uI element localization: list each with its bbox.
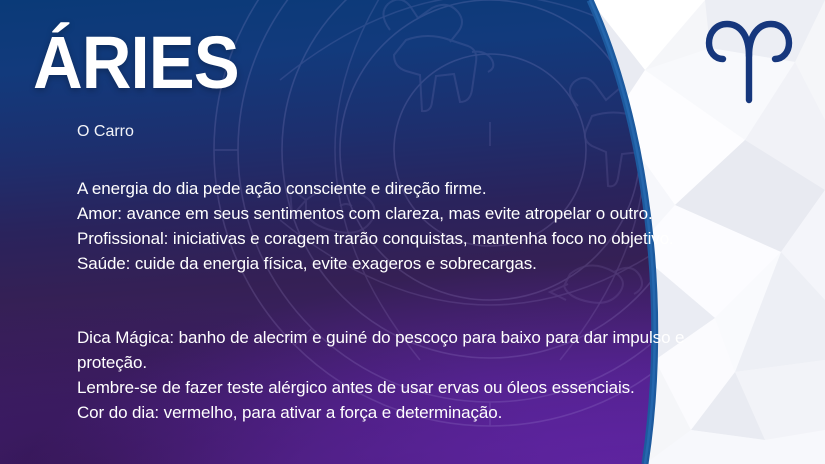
reading-line: Dica Mágica: banho de alecrim e guiné do…	[77, 325, 727, 375]
reading-line: Profissional: iniciativas e coragem trar…	[77, 226, 727, 251]
reading-paragraph-1: A energia do dia pede ação consciente e …	[77, 176, 727, 276]
reading-line: Cor do dia: vermelho, para ativar a forç…	[77, 400, 727, 425]
tarot-card-label: O Carro	[77, 122, 134, 141]
page-title: ÁRIES	[33, 26, 239, 100]
reading-line: A energia do dia pede ação consciente e …	[77, 176, 727, 201]
horoscope-card: ÁRIES O Carro A energia do dia pede ação…	[0, 0, 825, 464]
reading-line: Lembre-se de fazer teste alérgico antes …	[77, 375, 727, 400]
reading-line: Saúde: cuide da energia física, evite ex…	[77, 251, 727, 276]
reading-line: Amor: avance em seus sentimentos com cla…	[77, 201, 727, 226]
aries-zodiac-icon	[703, 14, 795, 106]
reading-paragraph-2: Dica Mágica: banho de alecrim e guiné do…	[77, 325, 727, 425]
